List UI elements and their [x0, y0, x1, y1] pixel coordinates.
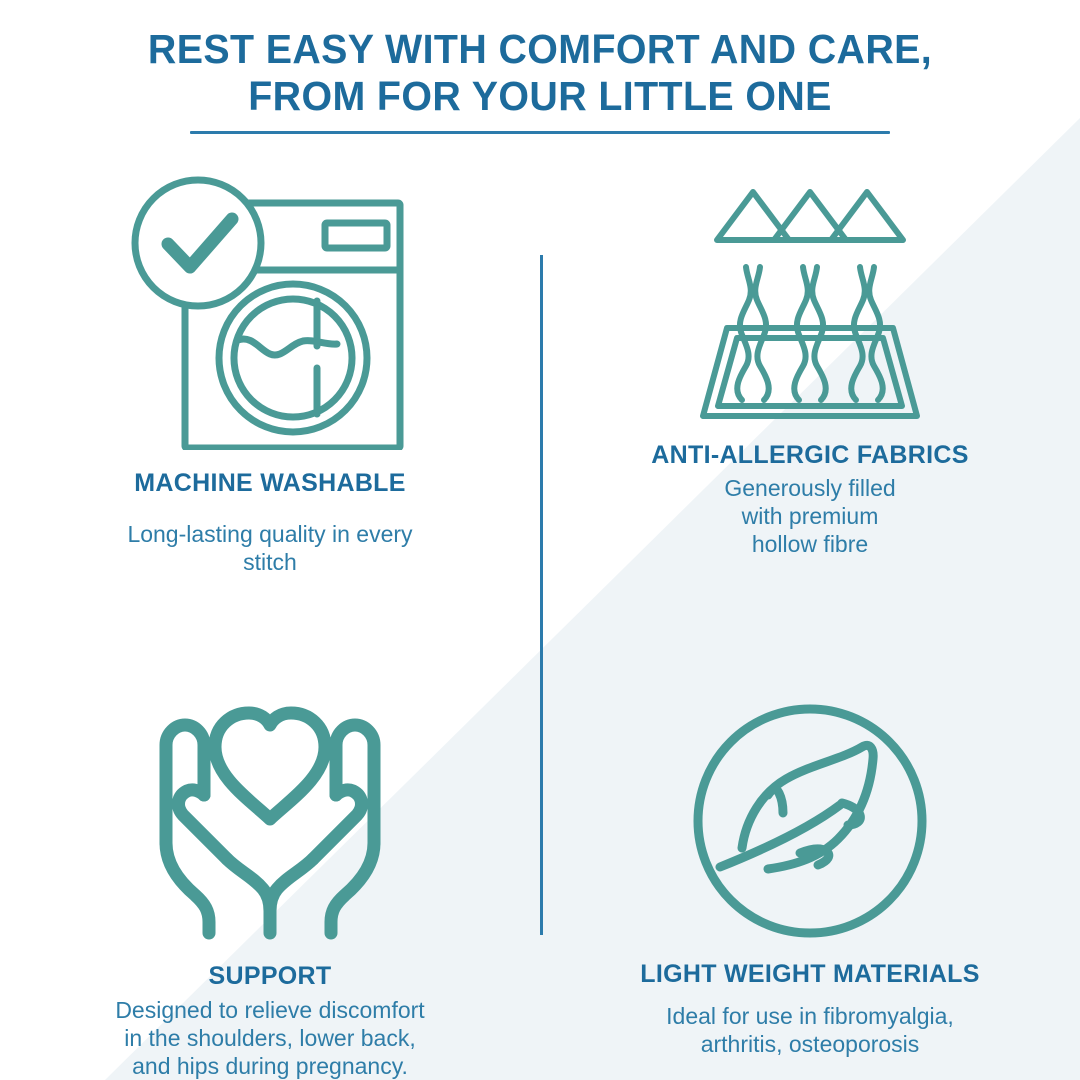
infographic-root: REST EASY WITH COMFORT AND CARE, FROM FO… — [0, 0, 1080, 1080]
feature-description: Generously filled with premium hollow fi… — [724, 474, 895, 558]
feature-description: Long-lasting quality in every stitch — [100, 520, 440, 576]
breathable-fabric-arrows-icon — [685, 178, 935, 428]
feature-title: ANTI-ALLERGIC FABRICS — [651, 442, 968, 469]
feature-title: MACHINE WASHABLE — [134, 470, 405, 497]
title-underline — [190, 131, 890, 134]
feature-title: LIGHT WEIGHT MATERIALS — [640, 961, 979, 988]
page-title: REST EASY WITH COMFORT AND CARE, FROM FO… — [0, 26, 1080, 134]
feature-description: Designed to relieve discomfort in the sh… — [115, 996, 424, 1080]
feature-card-support: SUPPORT Designed to relieve discomfort i… — [0, 601, 540, 1080]
feature-card-light-weight-materials: LIGHT WEIGHT MATERIALS Ideal for use in … — [540, 601, 1080, 1080]
column-divider — [540, 255, 543, 935]
feature-title: SUPPORT — [209, 963, 332, 990]
feature-card-anti-allergic-fabrics: ANTI-ALLERGIC FABRICS Generously filled … — [540, 160, 1080, 601]
page-title-line-2: FROM FOR YOUR LITTLE ONE — [22, 73, 1059, 120]
feather-in-circle-icon — [690, 701, 930, 941]
washing-machine-check-icon — [130, 168, 410, 450]
feature-description: Ideal for use in fibromyalgia, arthritis… — [666, 1002, 954, 1058]
feature-card-machine-washable: MACHINE WASHABLE Long-lasting quality in… — [0, 160, 540, 601]
hands-holding-heart-icon — [143, 697, 398, 945]
page-title-line-1: REST EASY WITH COMFORT AND CARE, — [22, 26, 1059, 73]
